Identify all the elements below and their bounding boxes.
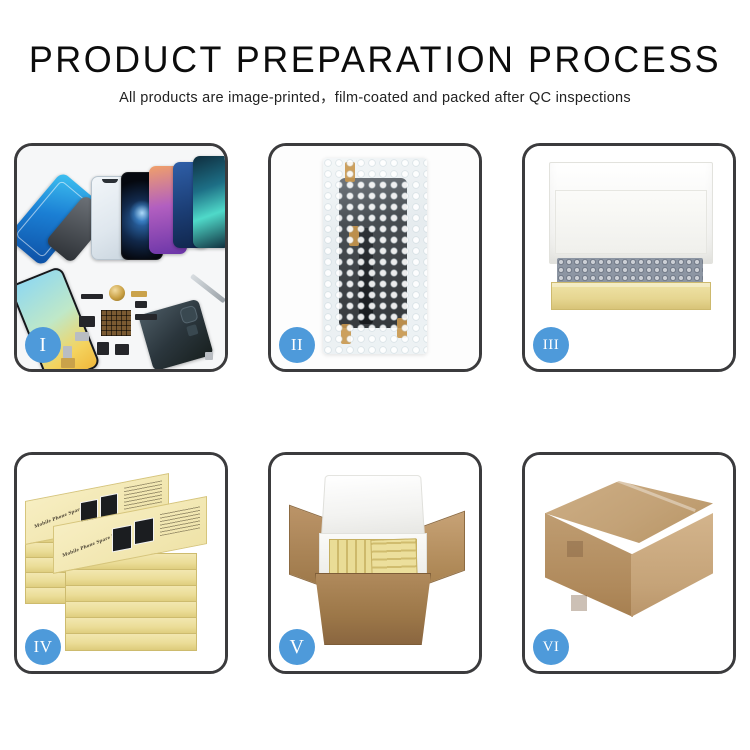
part-small-module [135, 301, 147, 308]
tape-strip-bottom-right [397, 318, 407, 338]
carton-handle-tab-top [567, 541, 583, 557]
bubble-wrapped-contents [557, 258, 703, 284]
page-subtitle: All products are image-printed，film-coat… [0, 80, 750, 107]
panel-bubble-wrap[interactable]: II [268, 143, 482, 372]
foam-sheet-front [555, 190, 707, 254]
phone-teal-display [193, 156, 225, 248]
yellow-box-base [551, 282, 711, 310]
part-screw [205, 352, 213, 360]
carton-body [315, 573, 431, 645]
part-taptic-engine [97, 342, 109, 355]
tape-strip-bottom-left [341, 324, 351, 344]
header: PRODUCT PREPARATION PROCESS All products… [0, 0, 750, 107]
panel-sealed-carton[interactable]: VI [522, 452, 736, 674]
panel-parts-overview[interactable]: I [14, 143, 228, 372]
panel-badge-2: II [279, 327, 315, 363]
part-gold-shield [61, 358, 75, 368]
box-window-front-2 [134, 517, 154, 545]
part-vibration-motor [115, 344, 129, 355]
stack-box-front-6 [65, 633, 197, 651]
packed-yellow-boxes-secondary [370, 538, 417, 576]
process-panel-grid: I II III [14, 143, 736, 674]
tape-strip-middle [349, 226, 359, 246]
panel-box-stack[interactable]: Mobile Phone Spare Parts Mobile Phone Sp… [14, 452, 228, 674]
part-screw-tray [101, 310, 131, 336]
part-camera-module [79, 316, 95, 327]
foam-liner-lid [321, 475, 425, 537]
page-title: PRODUCT PREPARATION PROCESS [11, 0, 739, 80]
carton-handle-tab-bottom [571, 595, 587, 611]
panel-inner-box[interactable]: III [522, 143, 736, 372]
panel-carton-packing[interactable]: V [268, 452, 482, 674]
box-window-front-1 [112, 525, 132, 553]
part-gold-connector [131, 291, 147, 297]
panel-badge-5: V [279, 629, 315, 665]
part-flex-cable [135, 314, 157, 320]
bubble-wrap-bag [323, 158, 427, 354]
panel-badge-3: III [533, 327, 569, 363]
panel-badge-4: IV [25, 629, 61, 665]
part-speaker-mesh [81, 294, 103, 299]
part-wireless-coil [109, 285, 125, 301]
panel-badge-1: I [25, 327, 61, 363]
part-metal-bracket [75, 332, 89, 341]
box-spec-text-front [160, 504, 200, 536]
wrapped-screen-assembly [339, 178, 407, 328]
tape-strip-top [345, 162, 355, 182]
wrapped-flex-cable [359, 228, 373, 324]
panel-badge-6: VI [533, 629, 569, 665]
